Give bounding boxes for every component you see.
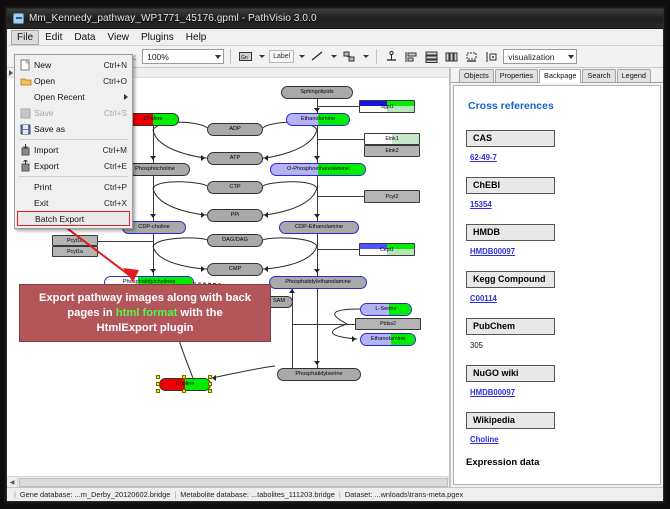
label-tool-button[interactable]: Label (269, 50, 294, 63)
file-menu-dropdown[interactable]: New Ctrl+N Open Ctrl+O Open Recent Save … (14, 54, 133, 229)
align-left-button[interactable] (403, 48, 420, 65)
selection-handle[interactable] (156, 389, 160, 393)
arrowhead-icon (201, 212, 205, 218)
menu-item-label: Batch Export (18, 214, 129, 224)
toolbar-divider (230, 49, 231, 64)
xref-cas: CAS 62-49-7 (466, 128, 648, 171)
menu-item-batch-export[interactable]: Batch Export (17, 211, 130, 226)
selection-handle[interactable] (208, 389, 212, 393)
menu-item-new[interactable]: New Ctrl+N (15, 57, 132, 73)
status-divider: | (174, 490, 176, 499)
menu-divider (19, 176, 128, 177)
interaction-dropdown-icon[interactable] (361, 48, 370, 65)
xref-chebi: ChEBI 15354 (466, 175, 648, 218)
dataset-value: ...wnloads\trans-meta.pgex (374, 490, 463, 499)
gene-database-value: ...m_Derby_20120602.bridge (75, 490, 171, 499)
window-title: Mm_Kennedy_pathway_WP1771_45176.gpml - P… (29, 13, 317, 24)
toolbar-divider-2 (376, 49, 377, 64)
edge-to-cept1 (317, 249, 360, 250)
scrollbar-thumb[interactable] (19, 478, 448, 487)
group-button[interactable] (463, 48, 480, 65)
menu-item-accel: Ctrl+M (103, 146, 132, 155)
ungroup-button[interactable] (483, 48, 500, 65)
arrowhead-icon (352, 336, 356, 342)
arrowhead-icon (264, 266, 268, 272)
arrowhead-icon (314, 108, 320, 112)
open-folder-icon (17, 74, 34, 88)
pathvisio-window: Mm_Kennedy_pathway_WP1771_45176.gpml - P… (6, 8, 664, 502)
menu-divider (19, 139, 128, 140)
menu-item-label: Exit (34, 198, 104, 208)
menu-item-label: Save as (34, 124, 127, 134)
arrowhead-icon (212, 375, 216, 381)
xref-name: ChEBI (466, 177, 555, 194)
datanode-tool-button[interactable]: Gn (237, 48, 254, 65)
distribute-button[interactable] (443, 48, 460, 65)
tab-properties[interactable]: Properties (495, 69, 538, 82)
gene-sgpl1[interactable]: Sgpl1 (359, 100, 415, 113)
arrowhead-icon (289, 289, 295, 293)
tab-backpage[interactable]: Backpage (539, 69, 581, 83)
interaction-tool-button[interactable] (341, 48, 358, 65)
arrowhead-icon (150, 156, 156, 160)
gene-ptdss2[interactable]: Ptdss2 (355, 318, 421, 330)
menu-item-save-as[interactable]: Save as (15, 121, 132, 137)
node-adp[interactable]: ADP (207, 123, 263, 136)
expression-data-title: Expression data (466, 457, 648, 468)
save-icon (17, 106, 34, 120)
menu-item-accel: Ctrl+X (104, 199, 132, 208)
arrowhead-icon (201, 266, 205, 272)
arrowhead-icon (314, 214, 320, 218)
gene-pcyt2[interactable]: Pcyt2 (364, 190, 420, 203)
xref-hmdb: HMDB HMDB00097 (466, 222, 648, 265)
save-as-icon (17, 122, 34, 136)
selection-handle[interactable] (156, 382, 160, 386)
node-cmp[interactable]: CMP (207, 263, 263, 276)
menu-item-label: Open Recent (34, 92, 132, 102)
pathvisio-icon (13, 13, 24, 24)
menu-item-exit[interactable]: Exit Ctrl+X (15, 195, 132, 211)
chevron-down-icon (215, 55, 221, 59)
xref-name: Wikipedia (466, 412, 555, 429)
cross-references-title: Cross references (468, 100, 648, 112)
svg-text:Gn: Gn (241, 55, 248, 61)
status-divider: | (339, 490, 341, 499)
xref-value-link[interactable]: 62-49-7 (470, 153, 497, 162)
arrowhead-icon (264, 155, 268, 161)
status-divider: | (14, 490, 16, 499)
zoom-select[interactable]: 100% (142, 49, 224, 64)
callout-box: Export pathway images along with back pa… (19, 284, 271, 342)
xref-value-link[interactable]: Choline (470, 435, 499, 444)
node-phosphatidylethanolamine[interactable]: Phosphatidylethanolamine (269, 276, 367, 289)
gene-cept1[interactable]: Cept1 (359, 243, 415, 256)
menu-item-open-recent[interactable]: Open Recent (15, 89, 132, 105)
menu-item-accel: Ctrl+E (104, 162, 132, 171)
xref-value-link[interactable]: C00114 (470, 294, 497, 303)
edge-to-ptdss2 (292, 324, 355, 325)
menu-help[interactable]: Help (180, 30, 213, 45)
edge-ptdetn-ptdser (317, 289, 318, 368)
scroll-left-arrow-icon[interactable]: ◀ (7, 477, 18, 487)
selection-handle[interactable] (182, 375, 186, 379)
callout-line2-a: pages in (67, 307, 116, 319)
node-choline[interactable]: Choline (127, 113, 179, 126)
xref-value: 305 (470, 341, 483, 350)
import-icon (17, 143, 34, 157)
menu-item-label: Open (34, 76, 103, 86)
label-dropdown-icon[interactable] (297, 48, 306, 65)
xref-name: HMDB (466, 224, 555, 241)
edge-to-etnk (317, 139, 365, 140)
blank-icon (17, 90, 34, 104)
blank-icon (17, 196, 34, 210)
node-l-serine[interactable]: L-Serine (360, 303, 412, 316)
arrowhead-icon (314, 361, 320, 365)
menu-view[interactable]: View (101, 30, 135, 45)
menu-item-label: Import (34, 145, 103, 155)
node-dag[interactable]: DAG/DAG (207, 234, 263, 247)
node-ethanolamine-bottom[interactable]: Ethanolamine (360, 333, 416, 346)
side-panel-tabs: Objects Properties Backpage Search Legen… (451, 68, 663, 83)
arrowhead-icon (201, 155, 205, 161)
selection-handle[interactable] (156, 375, 160, 379)
xref-name: CAS (466, 130, 555, 147)
zoom-value: 100% (147, 52, 169, 62)
metabolite-database-value: ...tabolites_111203.bridge (251, 490, 335, 499)
xref-pubchem: PubChem 305 (466, 316, 648, 359)
xref-name: PubChem (466, 318, 555, 335)
line-dropdown-icon[interactable] (329, 48, 338, 65)
xref-name: Kegg Compound (466, 271, 555, 288)
tab-objects[interactable]: Objects (459, 69, 494, 82)
visualization-select[interactable]: visualization (503, 49, 577, 64)
xref-wikipedia: Wikipedia Choline (466, 410, 648, 453)
xref-name: NuGO wiki (466, 365, 555, 382)
edge-to-sgpl1 (317, 106, 361, 107)
gene-etnk2[interactable]: Etnk2 (364, 145, 420, 157)
xref-nugo-wiki: NuGO wiki HMDB00097 (466, 363, 648, 406)
tab-legend[interactable]: Legend (617, 69, 651, 82)
menu-item-print[interactable]: Print Ctrl+P (15, 179, 132, 195)
menu-item-label: New (34, 60, 104, 70)
status-bar: | Gene database: ...m_Derby_20120602.bri… (7, 487, 663, 501)
callout-line2-b: with the (177, 307, 222, 319)
gene-etnk1[interactable]: Etnk1 (364, 133, 420, 145)
edge-to-pcyt2 (317, 196, 365, 197)
menu-item-label: Print (34, 182, 104, 192)
node-ethanolamine-top[interactable]: Ethanolamine (286, 113, 350, 126)
menu-bar: File Edit Data View Plugins Help (7, 29, 663, 46)
callout-line3: HtmlExport plugin (97, 322, 194, 334)
new-file-icon (17, 58, 34, 72)
callout-line1: Export pathway images along with back (39, 292, 251, 304)
callout-line2-highlight: html format (116, 307, 178, 319)
dataset-label: Dataset: (345, 490, 373, 499)
menu-item-label: Export (34, 161, 104, 171)
xref-value-link[interactable]: 15354 (470, 200, 492, 209)
line-tool-button[interactable] (309, 48, 326, 65)
xref-value-link[interactable]: HMDB00097 (470, 388, 515, 397)
menu-data[interactable]: Data (68, 30, 101, 45)
selection-handle[interactable] (208, 382, 212, 386)
menu-item-export[interactable]: Export Ctrl+E (15, 158, 132, 174)
menu-item-accel: Ctrl+N (104, 61, 132, 70)
node-cdp-ethanolamine[interactable]: CDP-Ethanolamine (279, 221, 359, 234)
menu-item-accel: Ctrl+S (104, 109, 132, 118)
export-icon (17, 159, 34, 173)
menu-file[interactable]: File (11, 30, 39, 45)
menu-item-accel: Ctrl+P (104, 183, 132, 192)
submenu-arrow-icon (124, 94, 128, 100)
metabolite-database-label: Metabolite database: (180, 490, 249, 499)
menu-item-save: Save Ctrl+S (15, 105, 132, 121)
visualization-value: visualization (508, 52, 554, 62)
arrowhead-icon (314, 156, 320, 160)
backpage-content: Cross references CAS 62-49-7 ChEBI 15354… (453, 85, 661, 485)
menu-item-open[interactable]: Open Ctrl+O (15, 73, 132, 89)
menu-edit[interactable]: Edit (39, 30, 68, 45)
selection-handle[interactable] (208, 375, 212, 379)
anchor-tool-button[interactable] (383, 48, 400, 65)
xref-kegg-compound: Kegg Compound C00114 (466, 269, 648, 312)
tab-search[interactable]: Search (582, 69, 615, 82)
gene-database-label: Gene database: (20, 490, 73, 499)
blank-icon (17, 180, 34, 194)
selection-handle[interactable] (182, 389, 186, 393)
xref-value-link[interactable]: HMDB00097 (470, 247, 515, 256)
canvas-horizontal-scrollbar[interactable]: ◀ (7, 476, 449, 487)
stack-button[interactable] (423, 48, 440, 65)
menu-plugins[interactable]: Plugins (135, 30, 180, 45)
menu-item-accel: Ctrl+O (103, 77, 132, 86)
node-phosphatidylserine[interactable]: Phosphatidylserine (277, 368, 361, 381)
node-ppi[interactable]: PPi (207, 209, 263, 222)
node-o-phosphoethanolamine[interactable]: O-Phosphoethanolamine (270, 163, 366, 176)
expand-arrow-icon[interactable] (9, 70, 13, 76)
menu-item-label: Save (34, 108, 104, 118)
title-bar: Mm_Kennedy_pathway_WP1771_45176.gpml - P… (7, 9, 663, 29)
arrowhead-icon (264, 212, 268, 218)
side-panel: Objects Properties Backpage Search Legen… (450, 68, 663, 487)
node-atp[interactable]: ATP (207, 152, 263, 165)
datanode-dropdown-icon[interactable] (257, 48, 266, 65)
chevron-down-icon (568, 55, 574, 59)
node-ctp[interactable]: CTP (207, 181, 263, 194)
node-sphingolipids[interactable]: Sphingolipids (281, 86, 353, 99)
menu-item-import[interactable]: Import Ctrl+M (15, 142, 132, 158)
arrowhead-icon (314, 269, 320, 273)
